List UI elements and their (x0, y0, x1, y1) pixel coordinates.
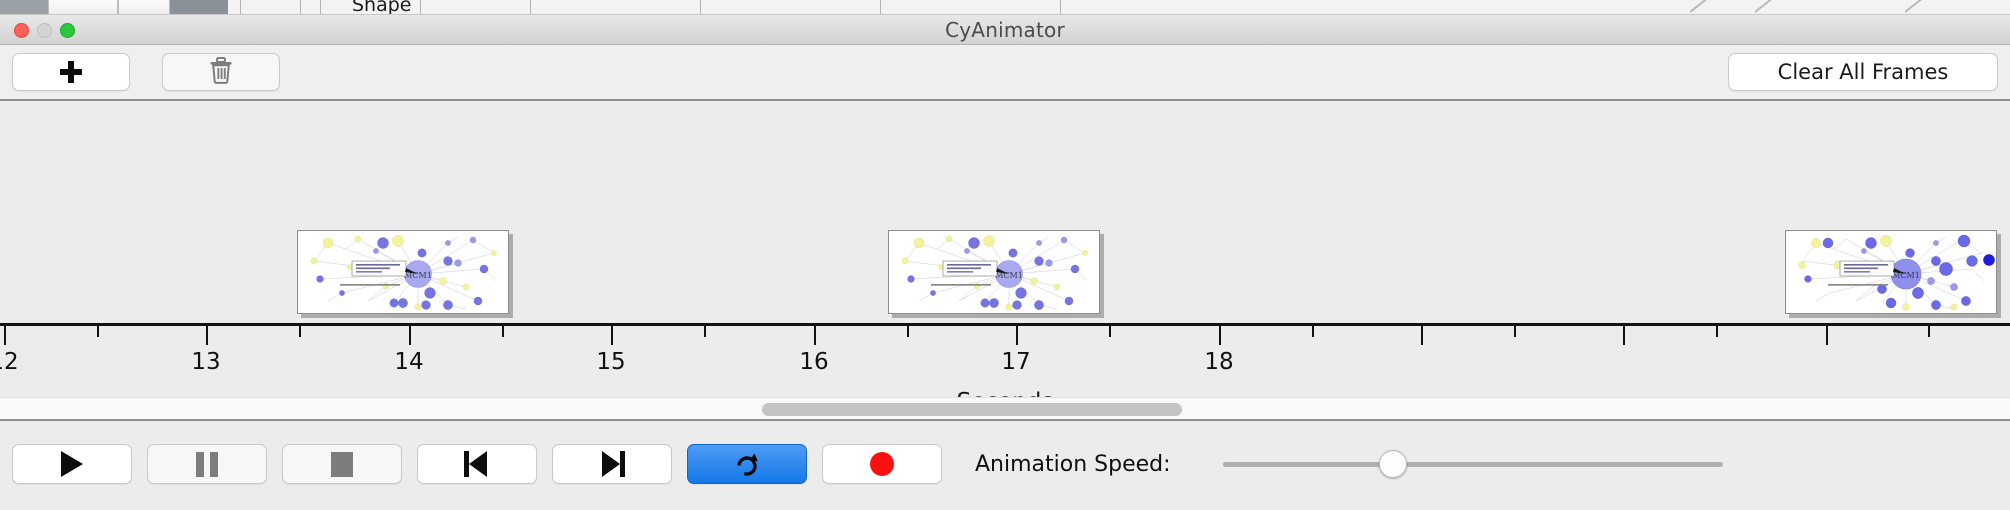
axis-tick-major (814, 326, 816, 345)
axis-tick-major (409, 326, 411, 345)
add-frame-button[interactable] (12, 53, 130, 91)
cyanimator-window: CyAnimator (0, 14, 2010, 510)
pause-button[interactable] (147, 444, 267, 484)
axis-tick-major (1826, 326, 1828, 345)
axis-label-14: 14 (394, 349, 423, 375)
timeline-panel: MCM1 (0, 101, 2010, 421)
timeline-frame-3[interactable]: MCM1 (1785, 230, 1997, 314)
timeline-frame-1[interactable]: MCM1 (297, 230, 509, 314)
timeline-horizontal-scrollbar[interactable] (0, 397, 2010, 421)
background-window-label: Shape (352, 0, 412, 14)
scrollbar-thumb[interactable] (762, 403, 1182, 416)
axis-tick-major (1623, 326, 1625, 345)
previous-frame-button[interactable] (417, 444, 537, 484)
window-title: CyAnimator (0, 18, 2010, 42)
delete-frame-button[interactable] (162, 53, 280, 91)
axis-tick-minor (299, 326, 301, 337)
play-icon (61, 451, 83, 477)
axis-tick-minor (1312, 326, 1314, 337)
animation-speed-label: Animation Speed: (975, 452, 1171, 477)
close-button[interactable] (14, 23, 29, 38)
playback-controls-bar: Animation Speed: (0, 421, 2010, 507)
trash-icon (208, 56, 234, 88)
axis-tick-minor (502, 326, 504, 337)
axis-label-17: 17 (1001, 349, 1030, 375)
plus-icon (60, 61, 82, 83)
frames-area: MCM1 (0, 101, 2010, 321)
axis-tick-major (1421, 326, 1423, 345)
axis-tick-minor (704, 326, 706, 337)
axis-label-16: 16 (799, 349, 828, 375)
stop-button[interactable] (282, 444, 402, 484)
axis-tick-major (611, 326, 613, 345)
stop-icon (331, 452, 353, 477)
window-titlebar: CyAnimator (0, 15, 2010, 45)
axis-label-12: 12 (0, 349, 19, 375)
skip-back-icon (464, 451, 490, 477)
axis-tick-minor (97, 326, 99, 337)
axis-label-15: 15 (596, 349, 625, 375)
loop-icon (732, 449, 762, 479)
axis-tick-major (206, 326, 208, 345)
clear-all-frames-button[interactable]: Clear All Frames (1728, 53, 1998, 91)
skip-forward-icon (599, 451, 625, 477)
axis-tick-major (4, 326, 6, 345)
axis-tick-minor (1514, 326, 1516, 337)
axis-tick-minor (1716, 326, 1718, 337)
axis-tick-major (1219, 326, 1221, 345)
next-frame-button[interactable] (552, 444, 672, 484)
record-button[interactable] (822, 444, 942, 484)
pause-icon (196, 452, 218, 477)
record-icon (870, 452, 894, 476)
cyanimator-window-root: Shape CyAnimator (0, 0, 2010, 510)
window-traffic-lights (14, 23, 75, 38)
axis-tick-minor (907, 326, 909, 337)
background-desktop-strip: Shape (0, 0, 2010, 14)
frame-toolbar: Clear All Frames (0, 45, 2010, 101)
slider-track (1223, 462, 1723, 467)
loop-button[interactable] (687, 444, 807, 484)
animation-speed-slider[interactable] (1223, 447, 1723, 481)
axis-tick-minor (1109, 326, 1111, 337)
clear-all-frames-label: Clear All Frames (1778, 60, 1949, 84)
axis-tick-major (1016, 326, 1018, 345)
slider-thumb[interactable] (1379, 450, 1407, 478)
axis-tick-minor (1928, 326, 1930, 337)
timeline-frame-2[interactable]: MCM1 (888, 230, 1100, 314)
axis-baseline (0, 323, 2010, 326)
play-button[interactable] (12, 444, 132, 484)
minimize-button[interactable] (37, 23, 52, 38)
axis-label-13: 13 (191, 349, 220, 375)
maximize-button[interactable] (60, 23, 75, 38)
axis-label-18: 18 (1204, 349, 1233, 375)
